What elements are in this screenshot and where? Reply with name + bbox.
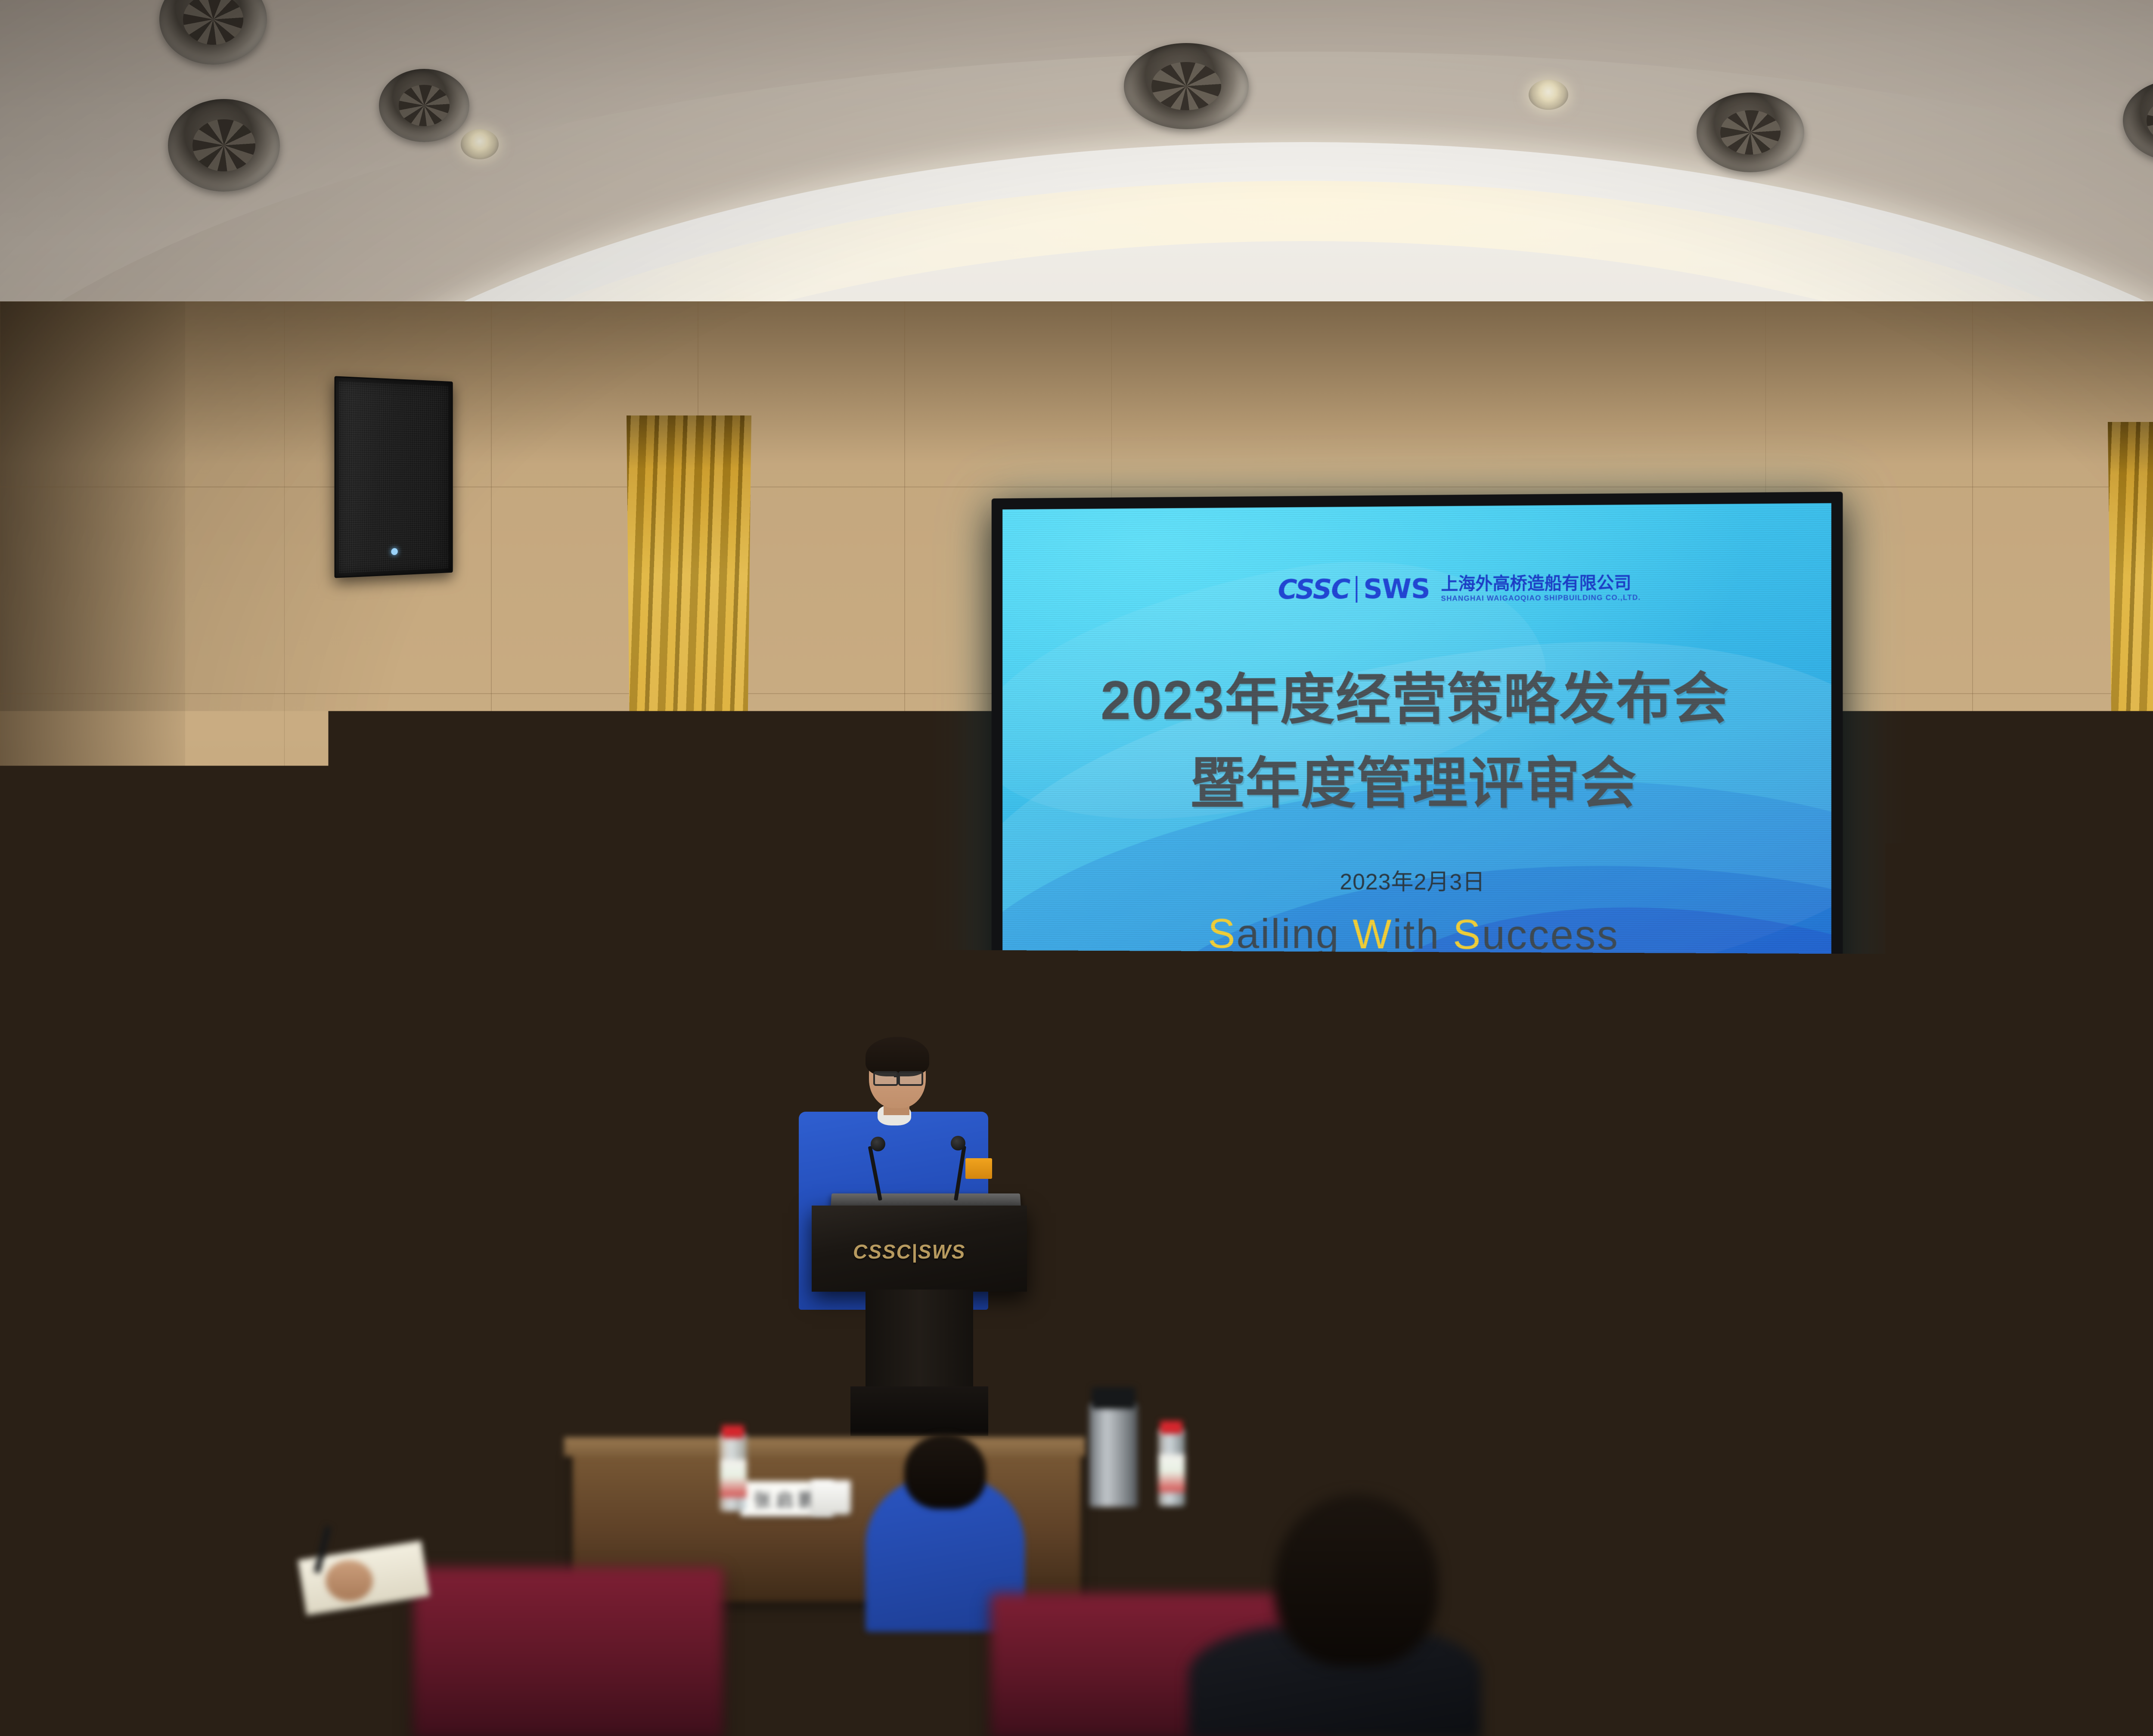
conference-room-photo: 安全出口 EXIT 安全出口 EXIT: [0, 0, 2153, 1736]
vignette-overlay: [0, 0, 2153, 1736]
